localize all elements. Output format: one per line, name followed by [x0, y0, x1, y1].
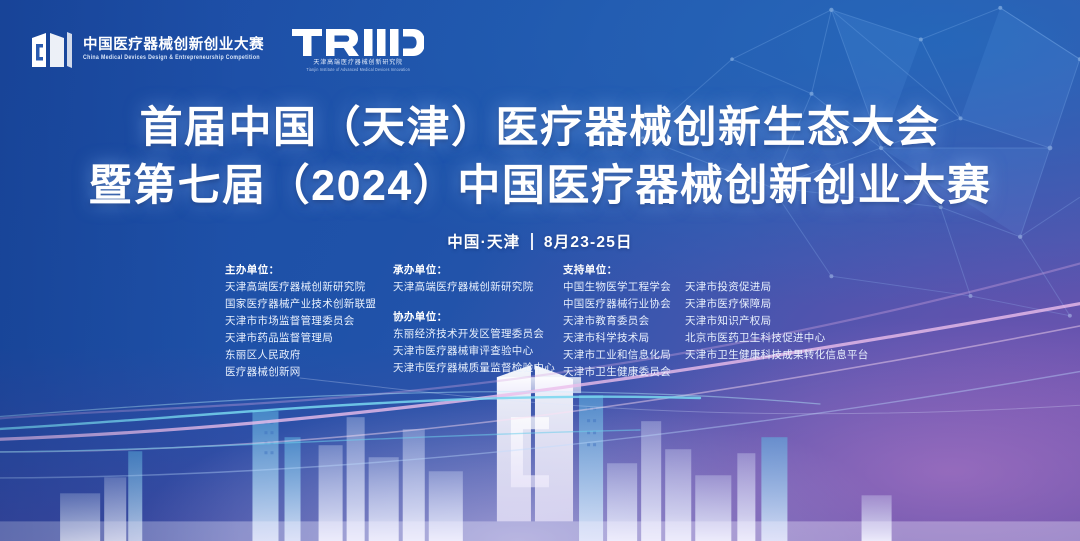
- undertaker-block: 承办单位： 天津高端医疗器械创新研究院: [393, 262, 563, 296]
- cmdc-logo-cn-name: 中国医疗器械创新创业大赛: [83, 38, 264, 53]
- triid-logo[interactable]: 天津高端医疗器械创新研究院 Tianjin Institute of Advan…: [292, 27, 424, 73]
- organizer-column-undertaker: 承办单位： 天津高端医疗器械创新研究院 协办单位： 东丽经济技术开发区管理委员会…: [393, 262, 563, 377]
- header-logos: 中国医疗器械创新创业大赛 China Medical Devices Desig…: [30, 27, 424, 73]
- undertaker-item: 天津高端医疗器械创新研究院: [393, 279, 563, 296]
- undertaker-heading: 承办单位：: [393, 262, 563, 279]
- organizer-column-host: 主办单位： 天津高端医疗器械创新研究院 国家医疗器械产业技术创新联盟 天津市市场…: [225, 262, 393, 381]
- host-item: 国家医疗器械产业技术创新联盟: [225, 296, 393, 313]
- conference-poster: 中国医疗器械创新创业大赛 China Medical Devices Desig…: [0, 0, 1080, 541]
- meta-divider: [531, 233, 533, 250]
- supporter-item: 天津市卫生健康科技成果转化信息平台: [685, 347, 869, 364]
- organizer-column-supporter: 支持单位： 中国生物医学工程学会 中国医疗器械行业协会 天津市教育委员会 天津市…: [563, 262, 869, 381]
- organizers-section: 主办单位： 天津高端医疗器械创新研究院 国家医疗器械产业技术创新联盟 天津市市场…: [225, 262, 1020, 381]
- supporter-subcolumn-2: 天津市投资促进局 天津市医疗保障局 天津市知识产权局 北京市医药卫生科技促进中心…: [685, 262, 869, 381]
- event-date: 8月23-25日: [544, 230, 633, 252]
- supporter-subcolumn-1: 支持单位： 中国生物医学工程学会 中国医疗器械行业协会 天津市教育委员会 天津市…: [563, 262, 671, 381]
- co-organizer-item: 天津市医疗器械审评查验中心: [393, 343, 563, 360]
- supporter-item: 天津市知识产权局: [685, 313, 869, 330]
- supporter-item: 天津市投资促进局: [685, 279, 869, 296]
- event-location: 中国·天津: [447, 230, 520, 252]
- cmdc-logo-en-name: China Medical Devices Design & Entrepren…: [83, 55, 264, 61]
- supporter-item: 天津市医疗保障局: [685, 296, 869, 313]
- triid-wordmark-icon: [292, 27, 424, 57]
- triid-logo-en-name: Tianjin Institute of Advanced Medical De…: [306, 69, 410, 73]
- triid-logo-cn-name: 天津高端医疗器械创新研究院: [313, 60, 403, 66]
- co-organizer-block: 协办单位： 东丽经济技术开发区管理委员会 天津市医疗器械审评查验中心 天津市医疗…: [393, 309, 563, 377]
- event-meta: 中国·天津 8月23-25日: [0, 230, 1080, 252]
- host-item: 天津市市场监督管理委员会: [225, 313, 393, 330]
- co-organizer-heading: 协办单位：: [393, 309, 563, 326]
- host-item: 天津市药品监督管理局: [225, 330, 393, 347]
- supporter-item: 天津市工业和信息化局: [563, 347, 671, 364]
- title-line-2: 暨第七届（2024）中国医疗器械创新创业大赛: [0, 157, 1080, 215]
- open-door-logo-icon: [30, 30, 74, 70]
- supporter-item: 天津市卫生健康委员会: [563, 364, 671, 381]
- supporter-subcolumn-spacer: [685, 262, 869, 279]
- host-item: 东丽区人民政府: [225, 347, 393, 364]
- co-organizer-item: 天津市医疗器械质量监督检验中心: [393, 360, 563, 377]
- supporter-heading: 支持单位：: [563, 262, 671, 279]
- title-line-1: 首届中国（天津）医疗器械创新生态大会: [0, 99, 1080, 157]
- cmdc-logo[interactable]: 中国医疗器械创新创业大赛 China Medical Devices Desig…: [30, 30, 264, 70]
- supporter-item: 天津市科学技术局: [563, 330, 671, 347]
- supporter-item: 中国医疗器械行业协会: [563, 296, 671, 313]
- supporter-item: 天津市教育委员会: [563, 313, 671, 330]
- supporter-item: 中国生物医学工程学会: [563, 279, 671, 296]
- poster-title: 首届中国（天津）医疗器械创新生态大会 暨第七届（2024）中国医疗器械创新创业大…: [0, 99, 1080, 215]
- skyline-door-logo-icon: [497, 365, 581, 521]
- supporter-item: 北京市医药卫生科技促进中心: [685, 330, 869, 347]
- host-block: 主办单位： 天津高端医疗器械创新研究院 国家医疗器械产业技术创新联盟 天津市市场…: [225, 262, 393, 381]
- host-item: 天津高端医疗器械创新研究院: [225, 279, 393, 296]
- host-heading: 主办单位：: [225, 262, 393, 279]
- co-organizer-item: 东丽经济技术开发区管理委员会: [393, 326, 563, 343]
- host-item: 医疗器械创新网: [225, 364, 393, 381]
